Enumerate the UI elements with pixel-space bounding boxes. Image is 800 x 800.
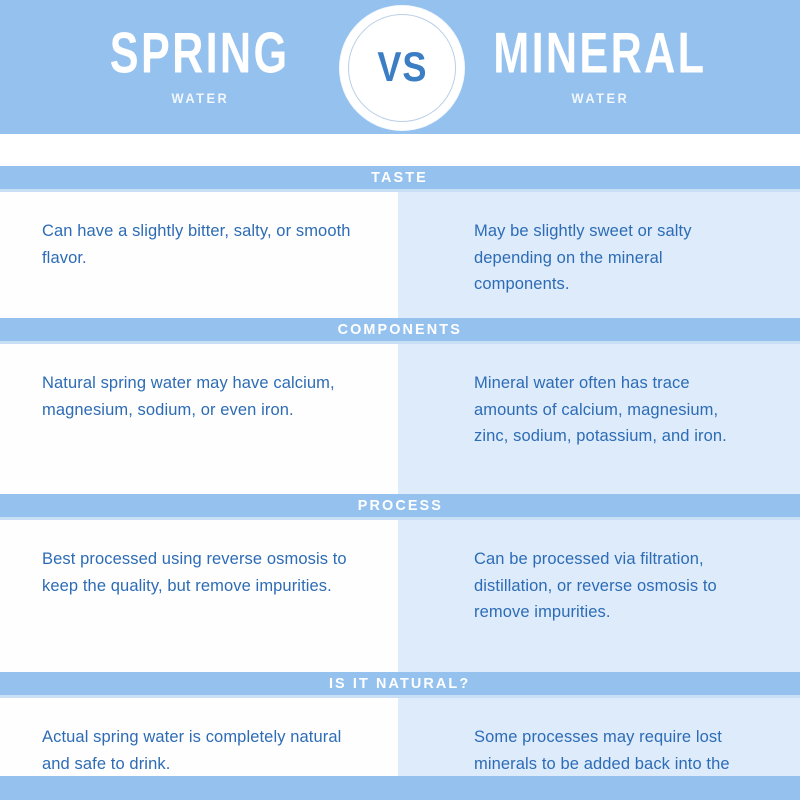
section-body-3: Best processed using reverse osmosis to … <box>0 520 800 672</box>
section-body-2: Natural spring water may have calcium, m… <box>0 344 800 494</box>
cell-text: Can have a slightly bitter, salty, or sm… <box>42 218 364 271</box>
vs-badge: VS <box>340 6 464 130</box>
section-label: PROCESS <box>357 498 442 513</box>
cell-text: Natural spring water may have calcium, m… <box>42 370 364 423</box>
cell-text: Actual spring water is completely natura… <box>42 724 364 777</box>
cell-text: Mineral water often has trace amounts of… <box>474 370 754 450</box>
comparison-infographic: SPRING WATER MINERAL WATER VS TASTECan h… <box>0 0 800 800</box>
spring-water-cell: Can have a slightly bitter, salty, or sm… <box>0 192 398 318</box>
right-subtitle: WATER <box>571 92 629 106</box>
section-label: TASTE <box>372 170 429 185</box>
mineral-water-cell: Can be processed via filtration, distill… <box>398 520 800 672</box>
left-subtitle: WATER <box>171 92 229 106</box>
mineral-water-cell: Mineral water often has trace amounts of… <box>398 344 800 494</box>
header-banner: SPRING WATER MINERAL WATER VS <box>0 0 800 134</box>
left-title: SPRING <box>110 24 290 81</box>
spring-water-cell: Natural spring water may have calcium, m… <box>0 344 398 494</box>
section-gap <box>0 134 800 166</box>
section-band-1: TASTE <box>0 166 800 192</box>
spring-water-cell: Best processed using reverse osmosis to … <box>0 520 398 672</box>
cell-text: May be slightly sweet or salty depending… <box>474 218 754 298</box>
section-label: COMPONENTS <box>338 322 462 337</box>
cell-text: Can be processed via filtration, distill… <box>474 546 754 626</box>
section-label: IS IT NATURAL? <box>329 676 470 691</box>
right-title: MINERAL <box>493 24 706 81</box>
section-band-3: PROCESS <box>0 494 800 520</box>
section-body-1: Can have a slightly bitter, salty, or sm… <box>0 192 800 318</box>
cell-text: Best processed using reverse osmosis to … <box>42 546 364 599</box>
footer-band <box>0 776 800 800</box>
comparison-table: TASTECan have a slightly bitter, salty, … <box>0 134 800 800</box>
vs-label: VS <box>377 44 427 91</box>
mineral-water-cell: May be slightly sweet or salty depending… <box>398 192 800 318</box>
section-band-2: COMPONENTS <box>0 318 800 344</box>
section-band-4: IS IT NATURAL? <box>0 672 800 698</box>
